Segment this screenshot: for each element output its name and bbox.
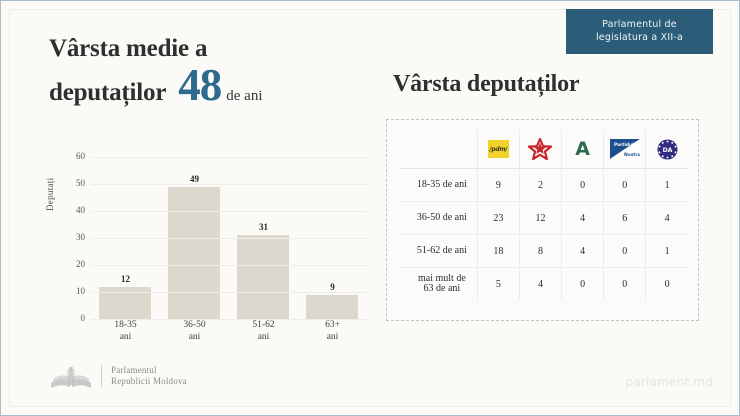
chart-x-tick-range: 63+ xyxy=(299,319,365,331)
chart-gridline xyxy=(91,157,367,158)
svg-text:DA: DA xyxy=(662,146,672,153)
party-header-platforma-da: DA xyxy=(646,130,688,169)
chart-x-tick: 36-50ani xyxy=(161,319,227,349)
badge-line-1: Parlamentul de xyxy=(572,18,707,31)
table-section-title: Vârsta deputaților xyxy=(393,71,579,98)
table-row-label-line-1: 51-62 de ani xyxy=(407,246,477,256)
table-cell: 4 xyxy=(646,202,688,235)
chart-gridline xyxy=(91,238,367,239)
table-cell: 0 xyxy=(604,268,646,301)
chart-x-tick-range: 18-35 xyxy=(92,319,158,331)
table-row: 18-35 de ani92001 xyxy=(399,169,688,202)
chart-x-tick: 63+ani xyxy=(299,319,365,349)
chart-y-tick: 0 xyxy=(81,313,86,323)
chart-x-tick-unit: ani xyxy=(299,331,365,343)
table-cell: 0 xyxy=(562,268,604,301)
chart-y-tick: 10 xyxy=(76,286,85,296)
parliament-logo: Parlamentul Republicii Moldova xyxy=(49,363,187,389)
party-header-psrm xyxy=(519,130,561,169)
table-body: 18-35 de ani9200136-50 de ani231246451-6… xyxy=(399,169,688,301)
chart-y-axis-label: Deputați xyxy=(45,178,55,211)
table-cell: 12 xyxy=(519,202,561,235)
headline-line-2-row: deputaților 48 de ani xyxy=(49,65,379,108)
table-row-label-line-1: 36-50 de ani xyxy=(407,213,477,223)
table-row: 51-62 de ani188401 xyxy=(399,235,688,268)
chart-y-tick: 30 xyxy=(76,232,85,242)
average-age-value: 48 xyxy=(178,65,221,105)
table-cell: 8 xyxy=(519,235,561,268)
table-row: 36-50 de ani2312464 xyxy=(399,202,688,235)
partidul-nostru-logo-icon: Partidul Nostru xyxy=(610,139,640,159)
table-row-label: 51-62 de ani xyxy=(399,235,477,268)
chart-bar xyxy=(306,295,358,319)
table-row: mai mult de63 de ani54000 xyxy=(399,268,688,301)
chart-gridline xyxy=(91,184,367,185)
table-cell: 1 xyxy=(646,169,688,202)
chart-x-tick-range: 36-50 xyxy=(161,319,227,331)
chart-x-tick: 18-35ani xyxy=(92,319,158,349)
pas-a-logo-icon: A xyxy=(575,139,590,159)
party-age-table: /pdm/ A xyxy=(399,130,688,300)
footer-text: Parlamentul Republicii Moldova xyxy=(111,365,187,387)
table-cell: 0 xyxy=(646,268,688,301)
table-cell: 18 xyxy=(477,235,519,268)
table-cell: 6 xyxy=(604,202,646,235)
chart-gridline xyxy=(91,292,367,293)
age-distribution-chart: Deputați 1249319 0102030405060 18-35ani3… xyxy=(49,149,369,349)
table-row-label-line-1: 18-35 de ani xyxy=(407,180,477,190)
chart-bar-value: 12 xyxy=(121,274,130,284)
chart-y-tick: 40 xyxy=(76,205,85,215)
table-cell: 1 xyxy=(646,235,688,268)
table-cell: 4 xyxy=(562,235,604,268)
table-cell: 2 xyxy=(519,169,561,202)
chart-gridline xyxy=(91,211,367,212)
footer-line-2: Republicii Moldova xyxy=(111,376,187,387)
chart-y-tick: 50 xyxy=(76,178,85,188)
svg-text:Partidul: Partidul xyxy=(614,142,634,148)
slide-canvas: Parlamentul de legislatura a XII-a Vârst… xyxy=(0,0,740,416)
chart-bar-value: 49 xyxy=(190,174,199,184)
party-age-table-box: /pdm/ A xyxy=(386,119,699,321)
table-row-label-line-2: 63 de ani xyxy=(407,284,477,294)
chart-x-axis-labels: 18-35ani36-50ani51-62ani63+ani xyxy=(91,319,367,349)
headline-line-2: deputaților xyxy=(49,78,166,108)
chart-x-tick-range: 51-62 xyxy=(230,319,296,331)
psrm-star-logo-icon xyxy=(528,138,552,160)
table-cell: 0 xyxy=(604,169,646,202)
table-cell: 0 xyxy=(562,169,604,202)
average-age-unit: de ani xyxy=(226,88,262,105)
chart-gridline xyxy=(91,265,367,266)
table-header-row: /pdm/ A xyxy=(399,130,688,169)
footer-divider xyxy=(101,365,102,387)
table-corner-cell xyxy=(399,130,477,169)
party-header-pdm: /pdm/ xyxy=(477,130,519,169)
chart-y-tick: 20 xyxy=(76,259,85,269)
chart-bar xyxy=(237,235,289,319)
chart-plot-area: 1249319 0102030405060 xyxy=(91,157,367,319)
open-book-icon xyxy=(49,363,93,389)
table-cell: 9 xyxy=(477,169,519,202)
badge-line-2: legislatura a XII-a xyxy=(572,31,707,44)
chart-bar-value: 9 xyxy=(330,282,335,292)
chart-x-tick-unit: ani xyxy=(161,331,227,343)
chart-x-tick-unit: ani xyxy=(92,331,158,343)
chart-bar xyxy=(168,187,220,319)
party-header-pas: A xyxy=(562,130,604,169)
table-row-label: 36-50 de ani xyxy=(399,202,477,235)
watermark: parlament.md xyxy=(626,375,714,389)
svg-text:Nostru: Nostru xyxy=(624,152,640,158)
platforma-da-logo-icon: DA xyxy=(657,139,678,160)
footer-line-1: Parlamentul xyxy=(111,365,187,376)
pdm-logo-icon: /pdm/ xyxy=(488,140,509,158)
table-cell: 0 xyxy=(604,235,646,268)
table-cell: 4 xyxy=(519,268,561,301)
table-cell: 23 xyxy=(477,202,519,235)
chart-x-tick-unit: ani xyxy=(230,331,296,343)
table-row-label: 18-35 de ani xyxy=(399,169,477,202)
chart-bar-value: 31 xyxy=(259,222,268,232)
chart-x-tick: 51-62ani xyxy=(230,319,296,349)
page-title: Vârsta medie a deputaților 48 de ani xyxy=(49,34,379,108)
chart-y-tick: 60 xyxy=(76,151,85,161)
table-cell: 5 xyxy=(477,268,519,301)
party-header-partidul-nostru: Partidul Nostru xyxy=(604,130,646,169)
legislature-badge: Parlamentul de legislatura a XII-a xyxy=(566,9,713,54)
pdm-logo-text: /pdm/ xyxy=(488,140,509,158)
table-row-label: mai mult de63 de ani xyxy=(399,268,477,301)
table-cell: 4 xyxy=(562,202,604,235)
